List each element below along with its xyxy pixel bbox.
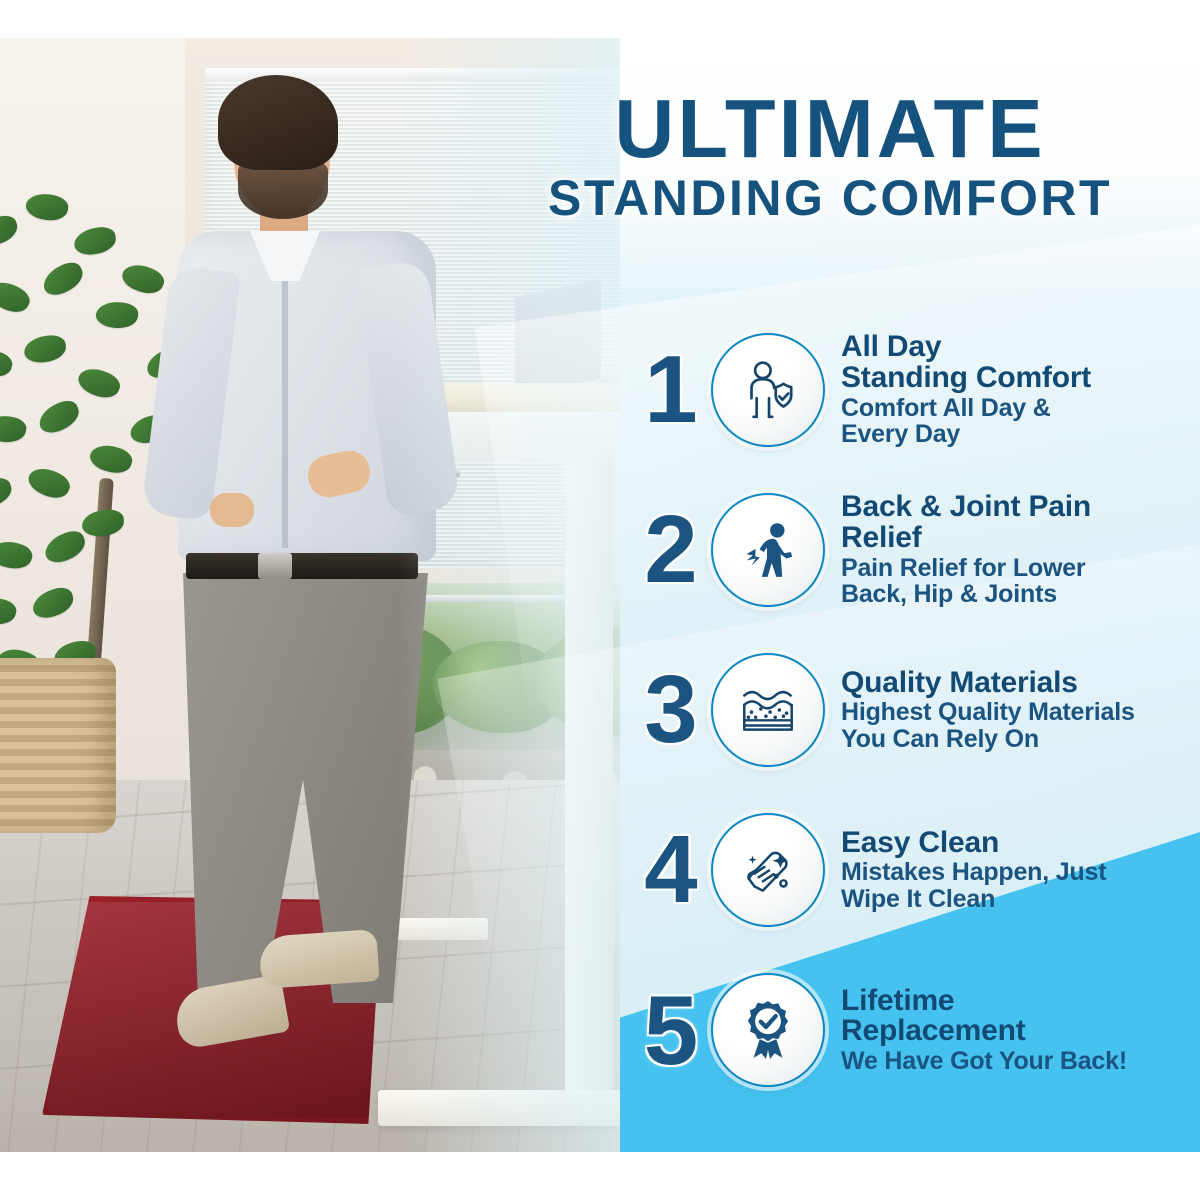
award-ribbon-check-icon — [711, 973, 825, 1087]
feature-item: 2 Back & Joint Pain Relief Pain Relief f… — [635, 470, 1200, 630]
shoe-right — [258, 929, 379, 989]
infographic-stage: ULTIMATE STANDING COMFORT 1 — [0, 38, 1200, 1152]
hair — [218, 75, 338, 170]
headline-line-1: ULTIMATE — [470, 88, 1190, 169]
feature-subtitle: Highest Quality Materials You Can Rely O… — [841, 699, 1200, 752]
feature-title: Easy Clean — [841, 828, 1200, 859]
wiping-hand-cloth-icon — [711, 813, 825, 927]
person-shield-icon — [711, 333, 825, 447]
feature-number: 1 — [635, 342, 707, 438]
feature-text: Easy Clean Mistakes Happen, Just Wipe It… — [835, 828, 1200, 913]
infographic-canvas: ULTIMATE STANDING COMFORT 1 — [0, 0, 1200, 1200]
feature-number: 3 — [635, 662, 707, 758]
headline-line-2: STANDING COMFORT — [470, 173, 1190, 223]
model-person — [90, 53, 450, 1073]
feature-text: Lifetime Replacement We Have Got Your Ba… — [835, 986, 1200, 1075]
feature-item: 3 — [635, 630, 1200, 790]
shirt-placket — [282, 268, 288, 548]
feature-title: Quality Materials — [841, 668, 1200, 699]
feature-text: Quality Materials Highest Quality Materi… — [835, 668, 1200, 753]
hand-left — [210, 493, 254, 527]
feature-item: 5 Lifetime Replacement We Have Got Your … — [635, 950, 1200, 1110]
feature-title: All Day Standing Comfort — [841, 332, 1200, 393]
belt-buckle — [258, 553, 292, 579]
back-pain-person-icon — [711, 493, 825, 607]
feature-text: Back & Joint Pain Relief Pain Relief for… — [835, 492, 1200, 607]
feature-item: 4 Easy Clean Mistakes Happen, Just Wipe — [635, 790, 1200, 950]
headline-block: ULTIMATE STANDING COMFORT — [470, 88, 1190, 223]
feature-title: Back & Joint Pain Relief — [841, 492, 1200, 553]
feature-item: 1 All Day Standing Comfort Comfort All D… — [635, 310, 1200, 470]
feature-number: 5 — [635, 981, 707, 1079]
feature-subtitle: Pain Relief for Lower Back, Hip & Joints — [841, 555, 1200, 608]
feature-text: All Day Standing Comfort Comfort All Day… — [835, 332, 1200, 447]
feature-subtitle: Comfort All Day & Every Day — [841, 395, 1200, 448]
feature-list: 1 All Day Standing Comfort Comfort All D… — [635, 310, 1200, 1110]
belt — [186, 553, 418, 579]
feature-subtitle: We Have Got Your Back! — [841, 1048, 1200, 1075]
feature-number: 2 — [635, 502, 707, 598]
foam-layers-icon — [711, 653, 825, 767]
feature-number: 4 — [635, 822, 707, 918]
feature-subtitle: Mistakes Happen, Just Wipe It Clean — [841, 859, 1200, 912]
feature-title: Lifetime Replacement — [841, 986, 1200, 1047]
